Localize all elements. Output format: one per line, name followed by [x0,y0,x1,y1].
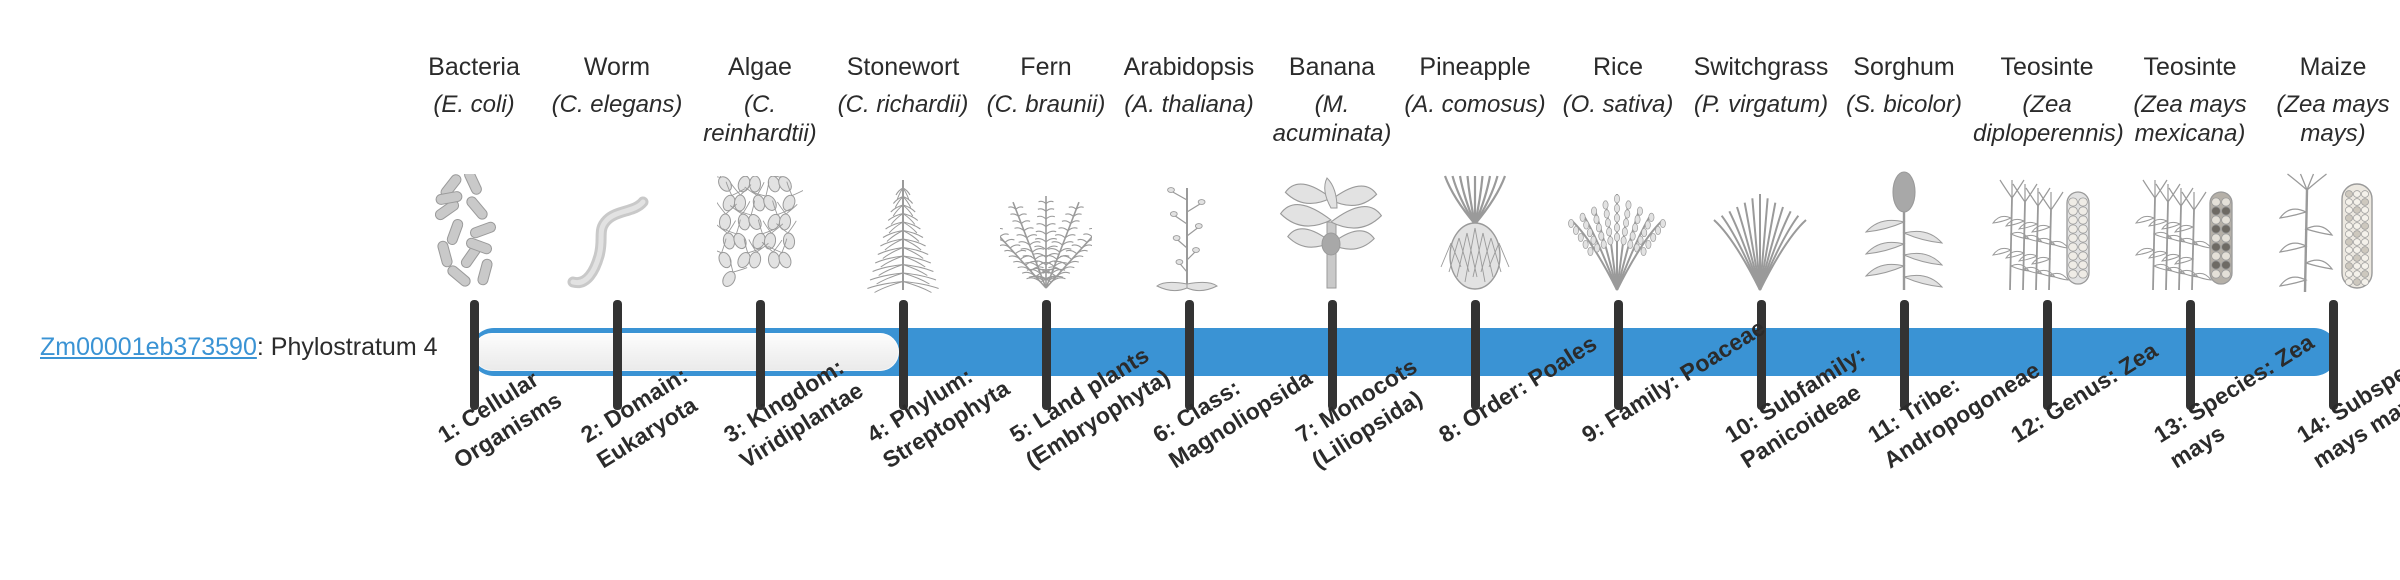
species-common-name: Fern [972,52,1120,82]
species-column-10: Switchgrass(P. virgatum) [1687,52,1835,119]
species-common-name: Switchgrass [1687,52,1835,82]
species-common-name: Teosinte [2116,52,2264,82]
gene-id-link[interactable]: Zm00001eb373590 [40,333,257,361]
species-scientific-name: (Zea mays mays) [2259,90,2400,148]
species-scientific-name: (Zea mays mexicana) [2116,90,2264,148]
species-common-name: Arabidopsis [1115,52,1263,82]
species-common-name: Rice [1544,52,1692,82]
species-column-5: Fern(C. braunii) [972,52,1120,119]
species-scientific-name: (Zea diploperennis) [1973,90,2121,148]
phylostratum-track-figure: Zm00001eb373590: Phylostratum 4 Bacteria… [0,0,2400,580]
phylostratum-number: 12: [2006,408,2048,448]
pineapple-icon [1401,168,1549,294]
species-scientific-name: (M. acuminata) [1258,90,1406,148]
species-column-1: Bacteria(E. coli) [400,52,548,119]
species-common-name: Sorghum [1830,52,1978,82]
rice-icon [1544,168,1692,294]
arabidopsis-icon [1115,168,1263,294]
species-scientific-name: (C. elegans) [543,90,691,119]
gene-phylostratum-value: Phylostratum 4 [271,333,438,361]
species-column-14: Maize(Zea mays mays) [2259,52,2400,148]
species-common-name: Teosinte [1973,52,2121,82]
species-scientific-name: (A. comosus) [1401,90,1549,119]
sorghum-icon [1830,168,1978,294]
switchgrass-icon [1687,168,1835,294]
phylostratum-number: 9: [1577,415,1608,448]
species-common-name: Pineapple [1401,52,1549,82]
species-scientific-name: (C. braunii) [972,90,1120,119]
teosinte-diploperennis-icon [1973,168,2121,294]
species-scientific-name: (P. virgatum) [1687,90,1835,119]
phylostratum-tick-1[interactable] [470,300,479,410]
species-common-name: Bacteria [400,52,548,82]
species-column-8: Pineapple(A. comosus) [1401,52,1549,119]
species-common-name: Stonewort [829,52,977,82]
species-scientific-name: (C. richardii) [829,90,977,119]
species-common-name: Worm [543,52,691,82]
species-column-3: Algae(C. reinhardtii) [686,52,834,148]
phylostratum-number: 8: [1434,415,1465,448]
gene-phylostratum-label: Zm00001eb373590: Phylostratum 4 [40,332,438,362]
fern-icon [972,168,1120,294]
species-column-11: Sorghum(S. bicolor) [1830,52,1978,119]
gene-label-separator: : [257,333,271,361]
species-common-name: Algae [686,52,834,82]
teosinte-mexicana-icon [2116,168,2264,294]
species-column-2: Worm(C. elegans) [543,52,691,119]
species-column-4: Stonewort(C. richardii) [829,52,977,119]
species-column-9: Rice(O. sativa) [1544,52,1692,119]
species-column-7: Banana(M. acuminata) [1258,52,1406,148]
species-scientific-name: (A. thaliana) [1115,90,1263,119]
species-column-6: Arabidopsis(A. thaliana) [1115,52,1263,119]
species-column-12: Teosinte(Zea diploperennis) [1973,52,2121,148]
species-common-name: Banana [1258,52,1406,82]
worm-icon [543,168,691,294]
stonewort-icon [829,168,977,294]
banana-icon [1258,168,1406,294]
bacteria-icon [400,168,548,294]
algae-icon [686,168,834,294]
species-scientific-name: (O. sativa) [1544,90,1692,119]
species-column-13: Teosinte(Zea mays mexicana) [2116,52,2264,148]
species-common-name: Maize [2259,52,2400,82]
phylostratum-name: Cellular Organisms [449,366,566,474]
species-scientific-name: (S. bicolor) [1830,90,1978,119]
species-scientific-name: (E. coli) [400,90,548,119]
maize-icon [2259,168,2400,294]
species-scientific-name: (C. reinhardtii) [686,90,834,148]
